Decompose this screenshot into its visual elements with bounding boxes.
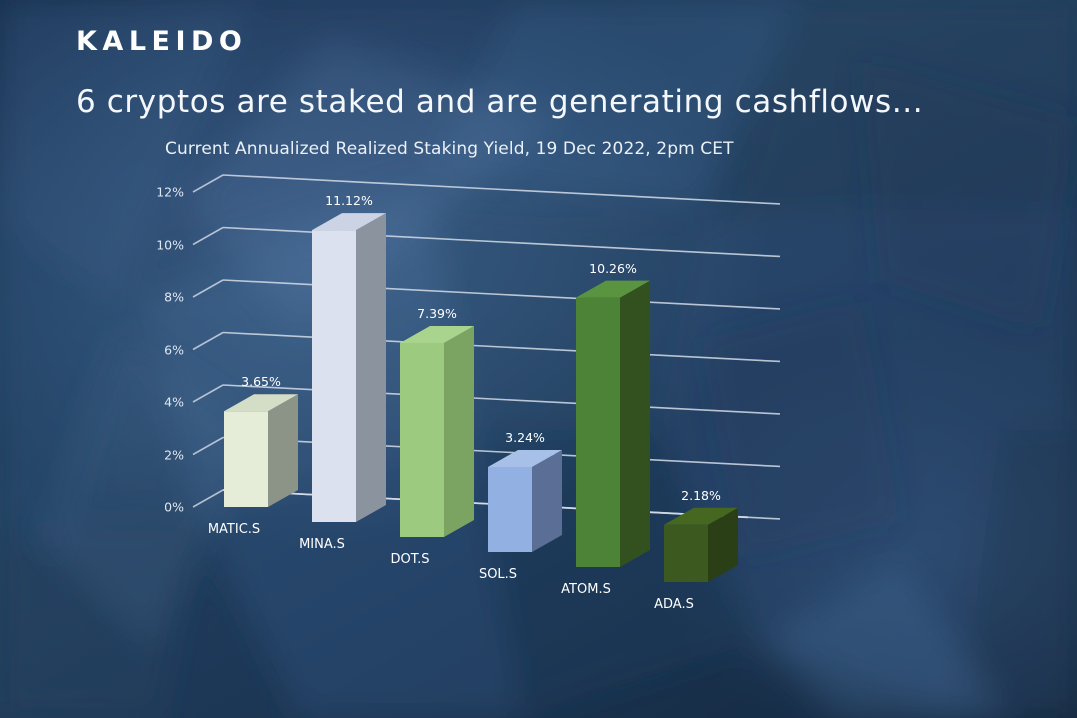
x-category-label: MATIC.S [208,522,260,537]
x-category-label: MINA.S [299,537,345,552]
x-category-label: ATOM.S [561,582,611,597]
slide-canvas: KALEIDO 6 cryptos are staked and are gen… [0,0,1077,718]
x-category-label: SOL.S [479,567,517,582]
y-tick-label: 12% [126,185,184,200]
y-tick-label: 8% [126,290,184,305]
bar-value-label: 10.26% [589,261,637,276]
y-tick-label: 4% [126,395,184,410]
y-tick-label: 2% [126,447,184,462]
bar-value-label: 7.39% [417,306,457,321]
x-category-label: DOT.S [390,552,429,567]
y-tick-label: 10% [126,237,184,252]
bar-value-label: 11.12% [325,193,373,208]
bar-value-label: 2.18% [681,488,721,503]
bar-value-label: 3.24% [505,430,545,445]
bar-value-label: 3.65% [241,374,281,389]
x-category-label: ADA.S [654,597,694,612]
staking-yield-bar-chart: 0%2%4%6%8%10%12% MATIC.SMINA.SDOT.SSOL.S… [0,0,1077,718]
y-tick-label: 0% [126,500,184,515]
y-tick-label: 6% [126,342,184,357]
